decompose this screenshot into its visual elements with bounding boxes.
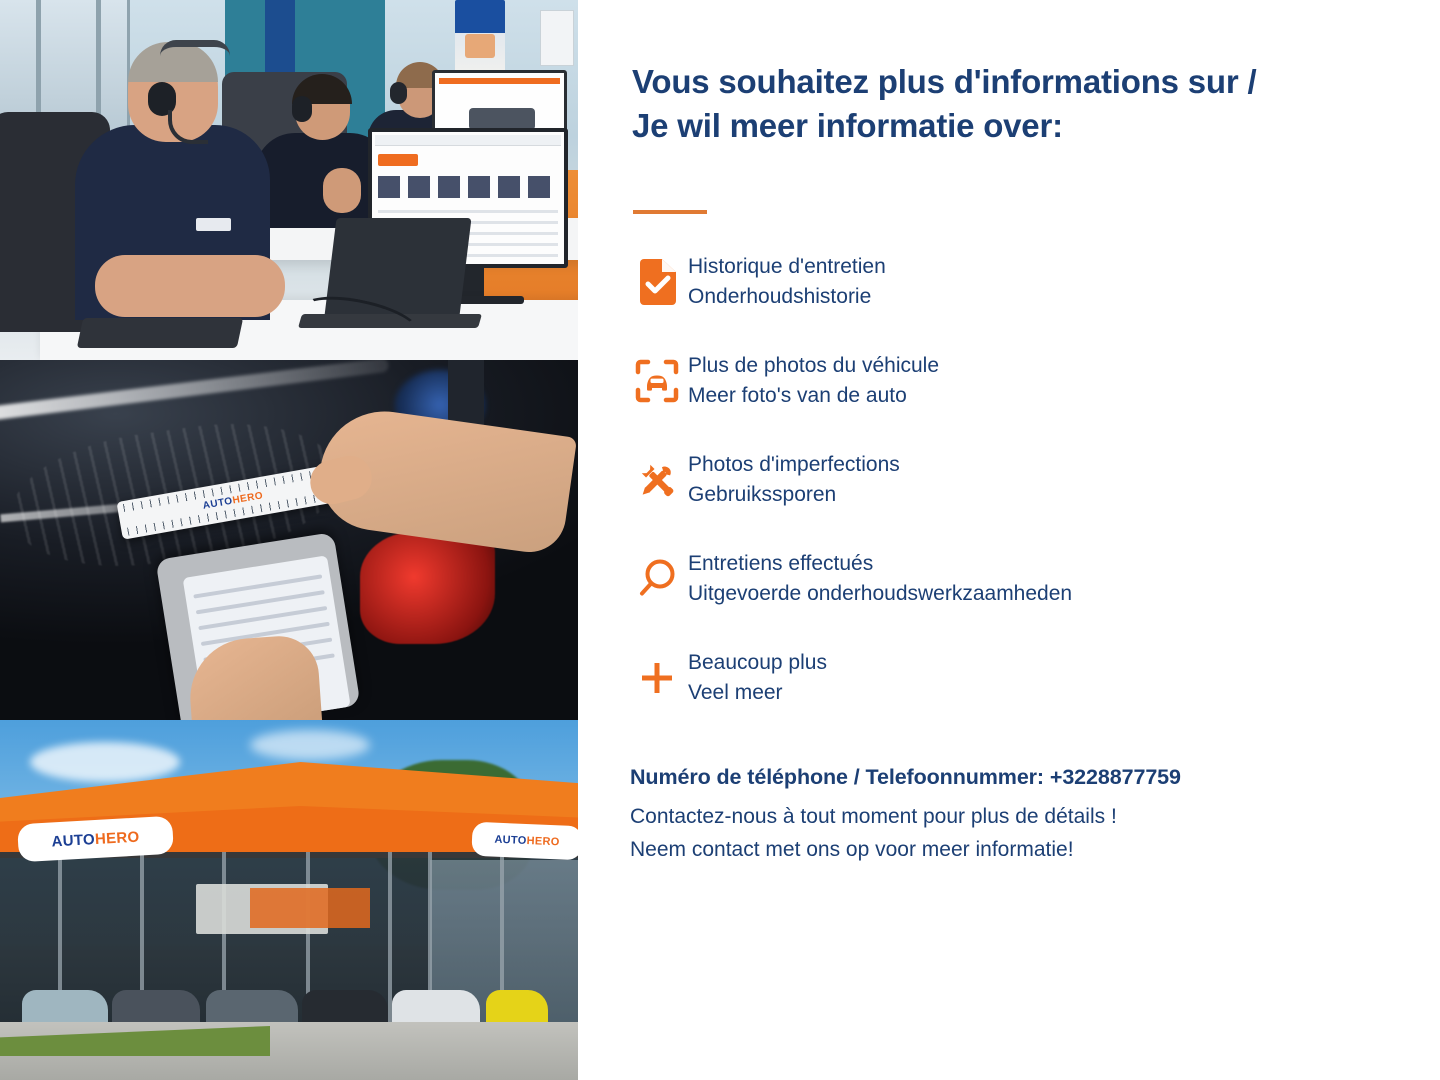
- logo-hero: HERO: [94, 828, 139, 847]
- list-item: Historique d'entretien Onderhoudshistori…: [626, 243, 1266, 321]
- feature-list: Historique d'entretien Onderhoudshistori…: [626, 243, 1266, 738]
- staff-name-badge: [196, 218, 231, 231]
- list-item: Plus de photos du véhicule Meer foto's v…: [626, 342, 1266, 420]
- logo-hero: HERO: [526, 835, 559, 848]
- logo-auto: AUTO: [494, 834, 527, 847]
- list-item-label-nl: Meer foto's van de auto: [688, 381, 939, 411]
- list-item-label-nl: Onderhoudshistorie: [688, 282, 886, 312]
- tools-cross-icon: [626, 457, 688, 503]
- phone-number-label[interactable]: Numéro de téléphone / Telefoonnummer: +3…: [630, 765, 1430, 790]
- title-divider: [633, 210, 707, 214]
- headset-icon: [292, 96, 312, 122]
- list-item-label-fr: Historique d'entretien: [688, 252, 886, 282]
- showroom-sign-right: AUTOHERO: [471, 822, 578, 861]
- list-item: Entretiens effectués Uitgevoerde onderho…: [626, 540, 1266, 618]
- list-item-label-fr: Photos d'imperfections: [688, 450, 900, 480]
- wall-poster: [455, 0, 505, 72]
- contact-line-fr: Contactez-nous à tout moment pour plus d…: [630, 801, 1430, 834]
- contact-line-nl: Neem contact met ons op voor meer inform…: [630, 834, 1430, 867]
- list-item-label-nl: Gebruikssporen: [688, 480, 900, 510]
- agent-one-arm: [95, 255, 285, 317]
- document-check-icon: [626, 259, 688, 305]
- page-title: Vous souhaitez plus d'informations sur /…: [632, 60, 1422, 148]
- agent-two-hand: [323, 168, 361, 213]
- list-item-labels: Entretiens effectués Uitgevoerde onderho…: [688, 549, 1072, 609]
- car-inspection-photo: AUTOHERO: [0, 360, 578, 720]
- list-item-label-nl: Uitgevoerde onderhoudswerkzaamheden: [688, 579, 1072, 609]
- cloud: [250, 730, 370, 760]
- content-panel: Vous souhaitez plus d'informations sur /…: [578, 0, 1440, 1080]
- call-center-agents-photo: [0, 0, 578, 360]
- logo-auto: AUTO: [51, 831, 95, 850]
- plus-icon: [626, 656, 688, 700]
- list-item-labels: Historique d'entretien Onderhoudshistori…: [688, 252, 886, 312]
- headset-icon: [390, 82, 407, 104]
- list-item-labels: Beaucoup plus Veel meer: [688, 648, 827, 708]
- marketing-slide: AUTOHERO: [0, 0, 1440, 1080]
- contact-block: Numéro de téléphone / Telefoonnummer: +3…: [630, 765, 1430, 866]
- interior-orange-wall: [250, 888, 370, 928]
- autohero-showroom-photo: AUTOHERO AUTOHERO: [0, 720, 578, 1080]
- photo-column: AUTOHERO: [0, 0, 578, 1080]
- list-item-label-fr: Plus de photos du véhicule: [688, 351, 939, 381]
- list-item-labels: Plus de photos du véhicule Meer foto's v…: [688, 351, 939, 411]
- desk-tablet: [77, 318, 243, 348]
- magnifier-icon: [626, 557, 688, 601]
- list-item: Photos d'imperfections Gebruikssporen: [626, 441, 1266, 519]
- list-item-labels: Photos d'imperfections Gebruikssporen: [688, 450, 900, 510]
- list-item-label-nl: Veel meer: [688, 678, 827, 708]
- car-scan-icon: [626, 359, 688, 403]
- page-title-fr: Vous souhaitez plus d'informations sur /: [632, 63, 1256, 100]
- page-title-nl: Je wil meer informatie over:: [632, 107, 1063, 144]
- list-item-label-fr: Entretiens effectués: [688, 549, 1072, 579]
- list-item: Beaucoup plus Veel meer: [626, 639, 1266, 717]
- wall-notice: [540, 10, 574, 66]
- cloud: [30, 742, 180, 782]
- list-item-label-fr: Beaucoup plus: [688, 648, 827, 678]
- headset-band: [160, 40, 230, 56]
- tail-light: [360, 532, 495, 644]
